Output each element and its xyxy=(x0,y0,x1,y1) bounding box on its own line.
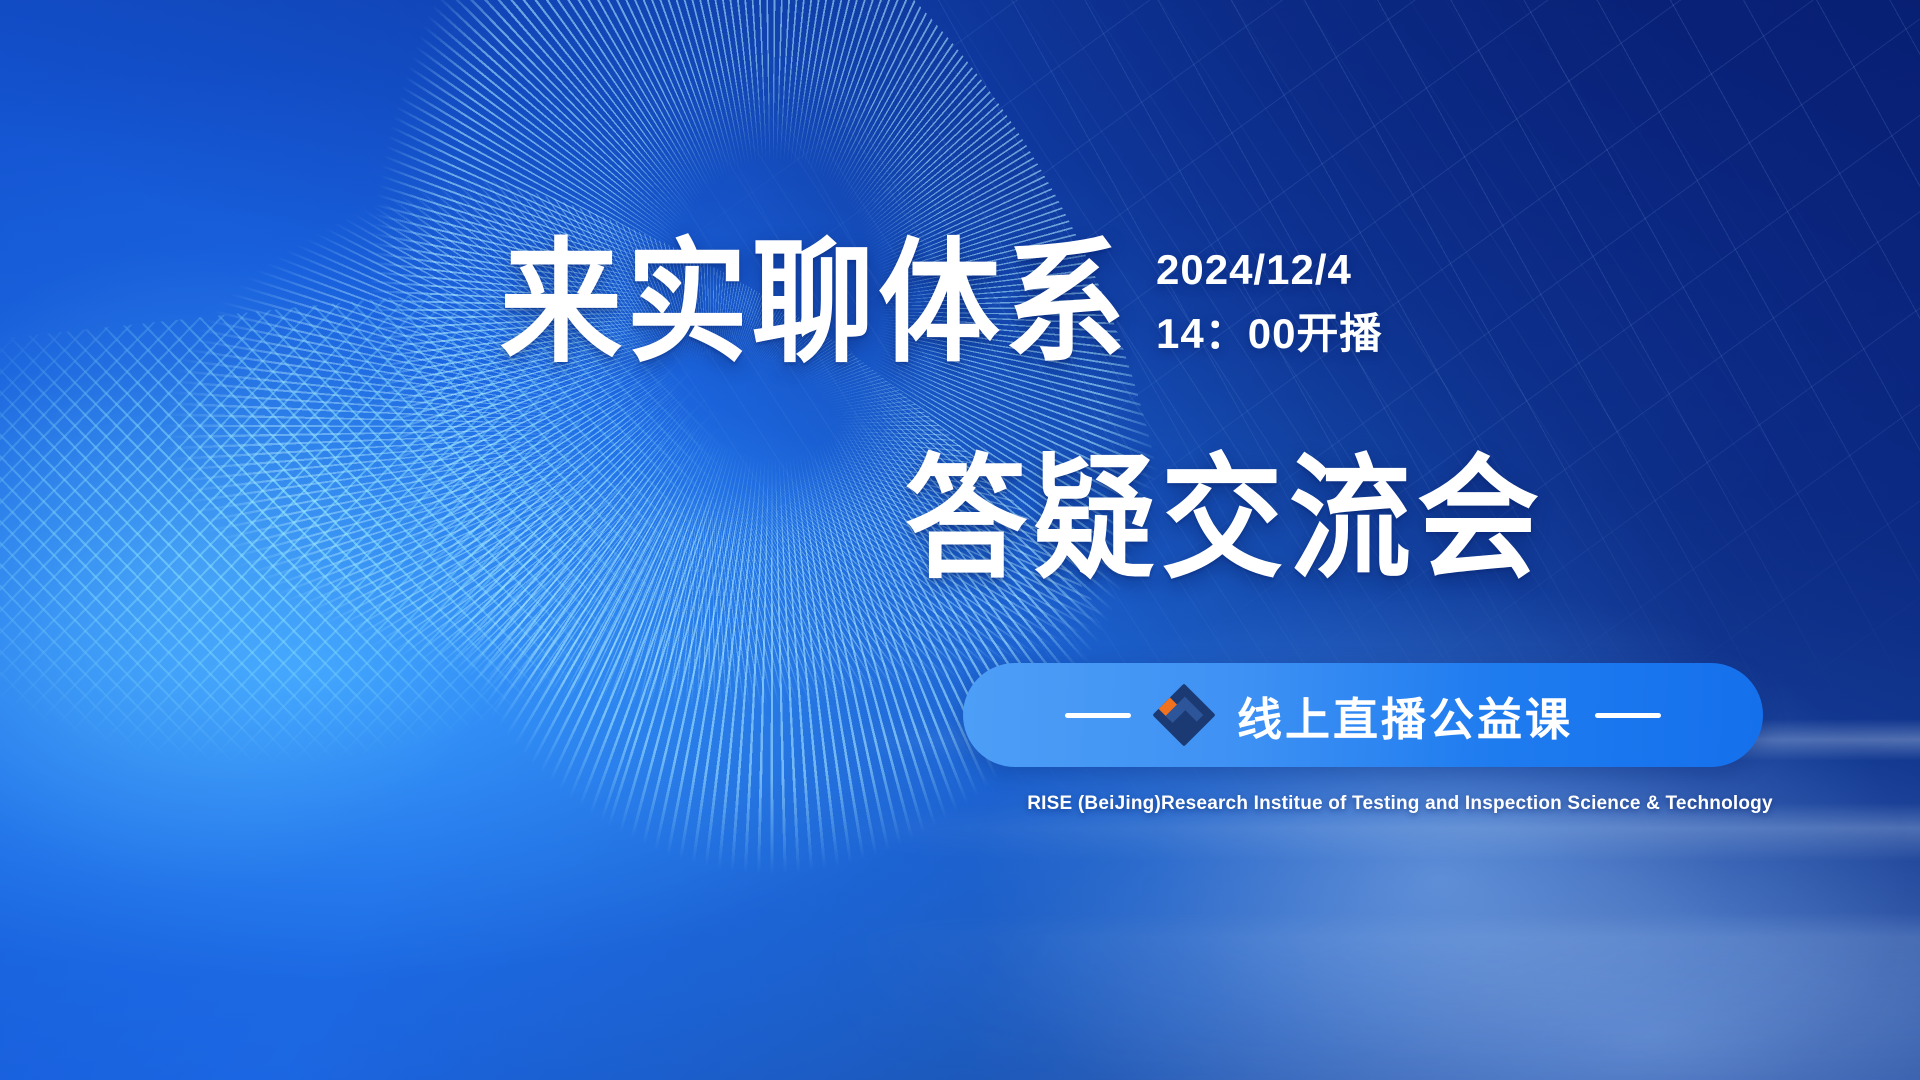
diamond-logo-icon xyxy=(1153,684,1215,746)
headline-line-2: 答疑交流会 xyxy=(905,452,1545,586)
banner-content: 来实聊体系 2024/12/4 14：00开播 答疑交流会 线上 xyxy=(0,0,1920,1080)
broadcast-date: 2024/12/4 xyxy=(1156,246,1382,294)
broadcast-time: 14：00开播 xyxy=(1156,300,1382,361)
live-course-badge: 线上直播公益课 xyxy=(963,663,1763,767)
dash-rule-right-icon xyxy=(1595,713,1661,718)
headline-line-1: 来实聊体系 xyxy=(500,236,1130,370)
organization-english-name: RISE (BeiJing)Research Institue of Testi… xyxy=(440,793,1920,815)
promo-banner: 来实聊体系 2024/12/4 14：00开播 答疑交流会 线上 xyxy=(0,0,1920,1080)
schedule-block: 2024/12/4 14：00开播 xyxy=(1156,236,1382,361)
headline-row: 来实聊体系 2024/12/4 14：00开播 xyxy=(500,236,1382,361)
badge-label: 线上直播公益课 xyxy=(1237,683,1573,748)
dash-rule-left-icon xyxy=(1065,713,1131,718)
